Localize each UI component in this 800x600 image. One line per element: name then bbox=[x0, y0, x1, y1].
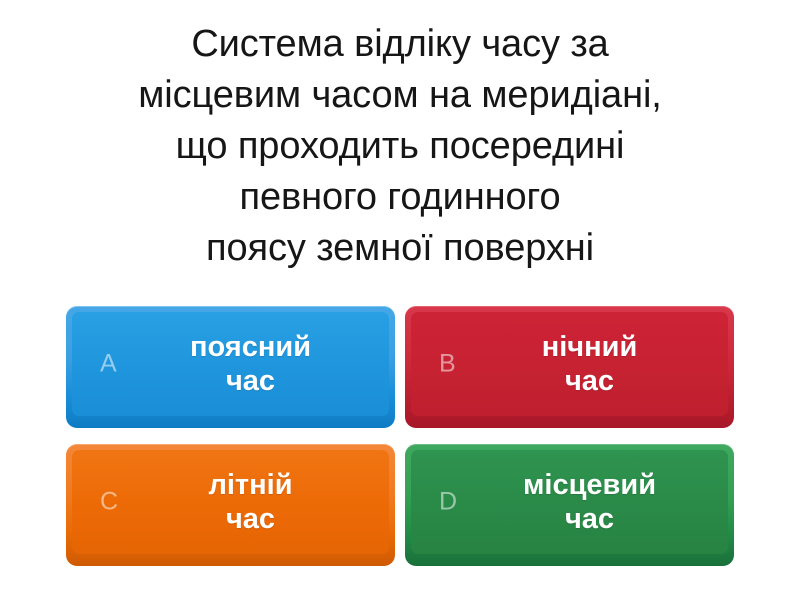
answer-option-d[interactable]: D місцевий час bbox=[405, 444, 734, 566]
question-area: Система відліку часу за місцевим часом н… bbox=[0, 0, 800, 292]
answer-option-a[interactable]: A поясний час bbox=[66, 306, 395, 428]
question-text: Система відліку часу за місцевим часом н… bbox=[50, 19, 750, 274]
answer-option-c-surface: C літній час bbox=[72, 450, 389, 554]
answer-options-grid: A поясний час B нічний час C літній час … bbox=[66, 306, 734, 568]
answer-label-b: нічний час bbox=[411, 330, 728, 398]
answer-label-d: місцевий час bbox=[411, 468, 728, 536]
answer-option-b[interactable]: B нічний час bbox=[405, 306, 734, 428]
answer-option-b-surface: B нічний час bbox=[411, 312, 728, 416]
answer-label-c: літній час bbox=[72, 468, 389, 536]
answer-option-a-surface: A поясний час bbox=[72, 312, 389, 416]
answer-option-d-surface: D місцевий час bbox=[411, 450, 728, 554]
quiz-screen: Система відліку часу за місцевим часом н… bbox=[0, 0, 800, 600]
answer-label-a: поясний час bbox=[72, 330, 389, 398]
answer-option-c[interactable]: C літній час bbox=[66, 444, 395, 566]
